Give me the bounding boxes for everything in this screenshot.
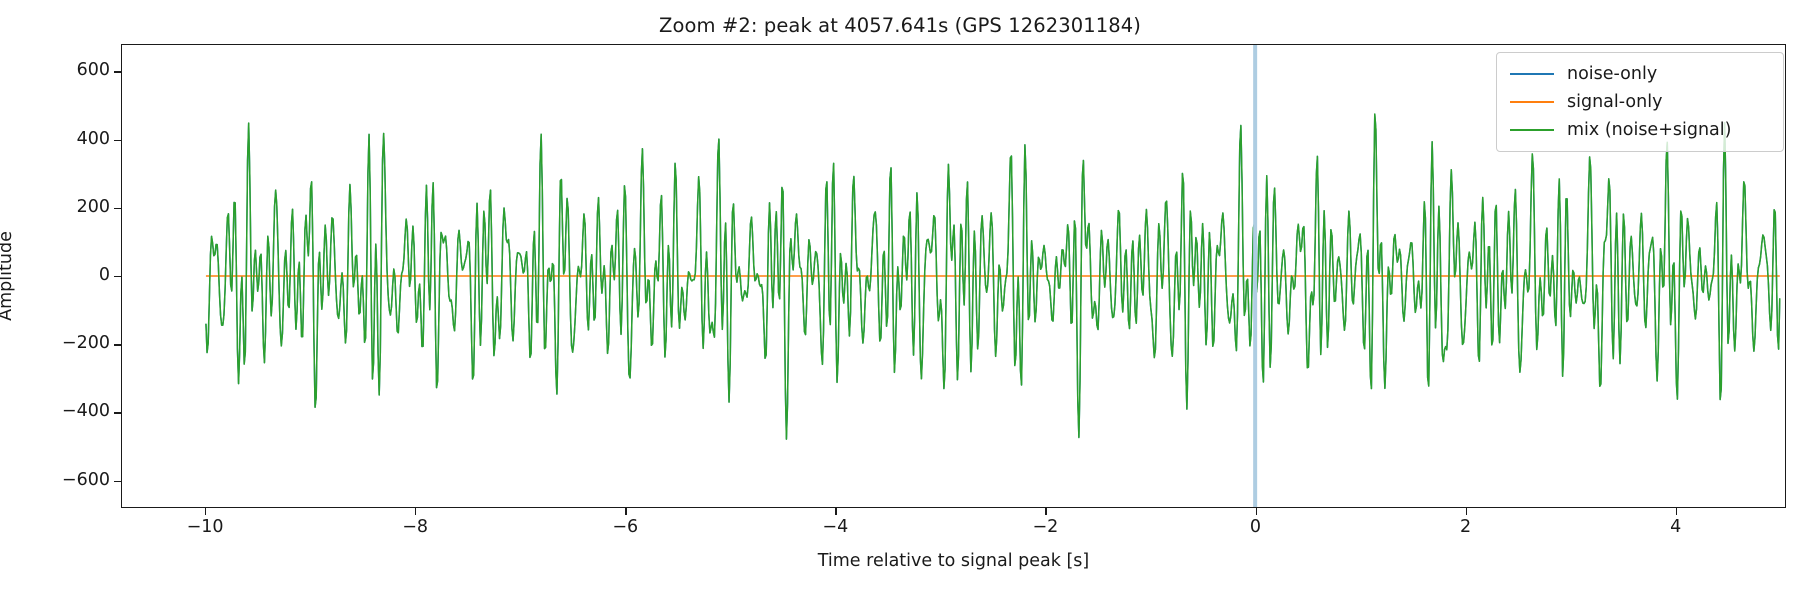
- x-tick-mark: [1466, 508, 1467, 515]
- x-tick-mark: [835, 508, 836, 515]
- x-tick-mark: [625, 508, 626, 515]
- x-tick-label: −10: [145, 517, 265, 537]
- y-tick-label: 0: [0, 267, 110, 285]
- y-tick-mark: [114, 412, 121, 413]
- x-tick-mark: [1676, 508, 1677, 515]
- x-tick-label: −2: [985, 517, 1105, 537]
- y-tick-label: −200: [0, 335, 110, 353]
- legend-item-signal-only[interactable]: signal-only: [1506, 88, 1774, 116]
- chart-title: Zoom #2: peak at 4057.641s (GPS 12623011…: [0, 14, 1800, 37]
- x-tick-mark: [415, 508, 416, 515]
- matplotlib-figure: Zoom #2: peak at 4057.641s (GPS 12623011…: [0, 0, 1800, 600]
- y-tick-mark: [114, 208, 121, 209]
- legend-item-noise-only[interactable]: noise-only: [1506, 60, 1774, 88]
- x-tick-label: −6: [565, 517, 685, 537]
- legend-line-swatch: [1510, 101, 1554, 103]
- legend-item-mix-noise-signal-[interactable]: mix (noise+signal): [1506, 116, 1774, 144]
- x-tick-mark: [1256, 508, 1257, 515]
- x-axis-label: Time relative to signal peak [s]: [121, 551, 1786, 571]
- x-tick-label: 2: [1406, 517, 1526, 537]
- x-tick-label: 4: [1616, 517, 1736, 537]
- y-tick-label: 400: [0, 131, 110, 149]
- legend-label: noise-only: [1567, 64, 1657, 84]
- y-tick-mark: [114, 276, 121, 277]
- x-tick-mark: [205, 508, 206, 515]
- x-tick-label: −4: [775, 517, 895, 537]
- legend-label: mix (noise+signal): [1567, 120, 1731, 140]
- y-tick-mark: [114, 140, 121, 141]
- y-tick-mark: [114, 344, 121, 345]
- y-tick-label: 600: [0, 62, 110, 80]
- y-tick-label: −400: [0, 403, 110, 421]
- y-tick-mark: [114, 481, 121, 482]
- chart-legend[interactable]: noise-onlysignal-onlymix (noise+signal): [1496, 52, 1784, 152]
- legend-line-swatch: [1510, 73, 1554, 75]
- legend-label: signal-only: [1567, 92, 1662, 112]
- x-tick-label: 0: [1196, 517, 1316, 537]
- y-tick-label: 200: [0, 199, 110, 217]
- y-tick-mark: [114, 71, 121, 72]
- x-tick-mark: [1045, 508, 1046, 515]
- x-tick-label: −8: [355, 517, 475, 537]
- y-tick-label: −600: [0, 472, 110, 490]
- legend-line-swatch: [1510, 129, 1554, 131]
